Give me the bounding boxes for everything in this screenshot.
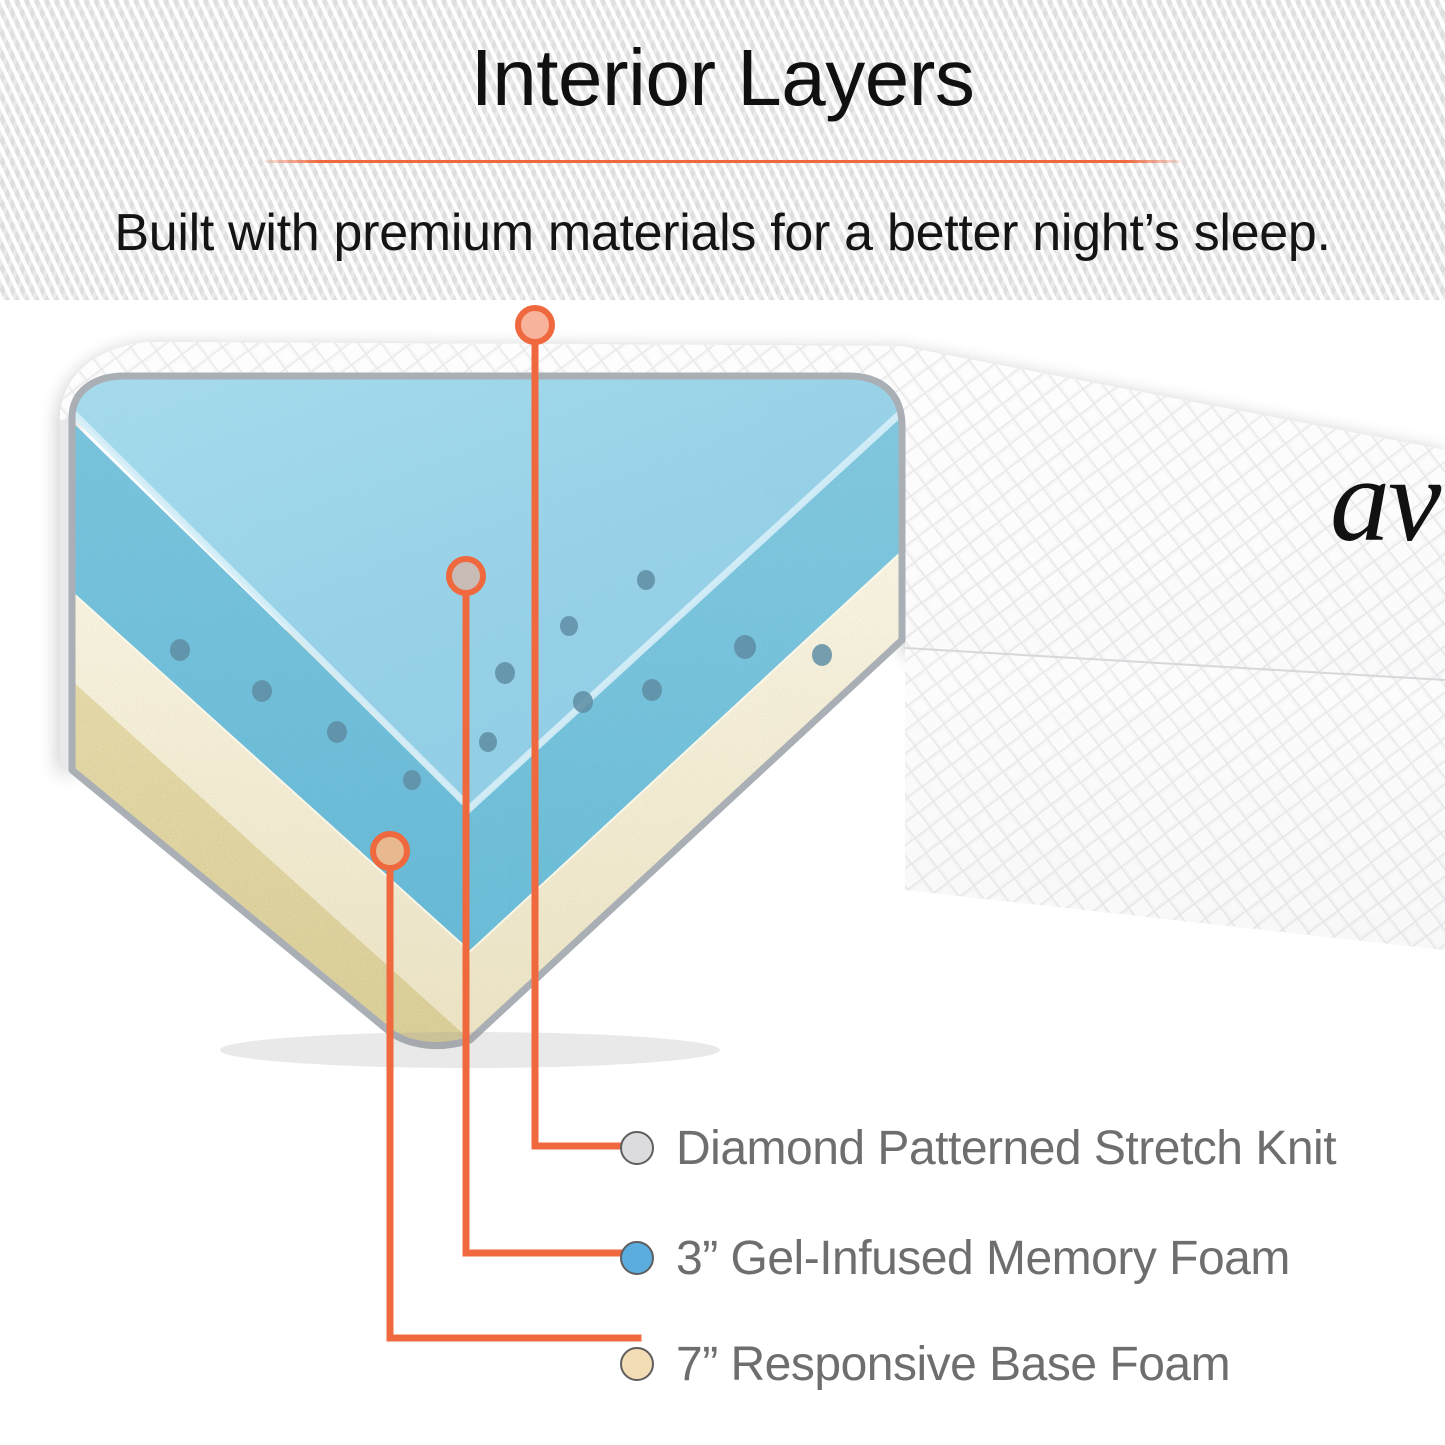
legend-item-base-foam: 7” Responsive Base Foam: [620, 1334, 1230, 1394]
legend-item-gel-foam: 3” Gel-Infused Memory Foam: [620, 1228, 1290, 1288]
mattress-cutaway-illustration: [0, 250, 1445, 1080]
cover-swatch-icon: [620, 1131, 654, 1165]
brand-logo: av: [1330, 440, 1439, 560]
gel-foam-swatch-icon: [620, 1241, 654, 1275]
legend-label-base-foam: 7” Responsive Base Foam: [676, 1337, 1230, 1392]
mattress-cover-side-panel: [905, 648, 1445, 950]
page-title: Interior Layers: [0, 38, 1445, 118]
base-foam-swatch-icon: [620, 1347, 654, 1381]
title-divider: [265, 160, 1180, 163]
legend-label-stretch-knit: Diamond Patterned Stretch Knit: [676, 1121, 1336, 1176]
interior-layers-infographic: Interior Layers Built with premium mater…: [0, 0, 1445, 1445]
mattress-drop-shadow: [220, 1032, 720, 1068]
legend-label-gel-foam: 3” Gel-Infused Memory Foam: [676, 1231, 1290, 1286]
legend-item-stretch-knit: Diamond Patterned Stretch Knit: [620, 1118, 1336, 1178]
